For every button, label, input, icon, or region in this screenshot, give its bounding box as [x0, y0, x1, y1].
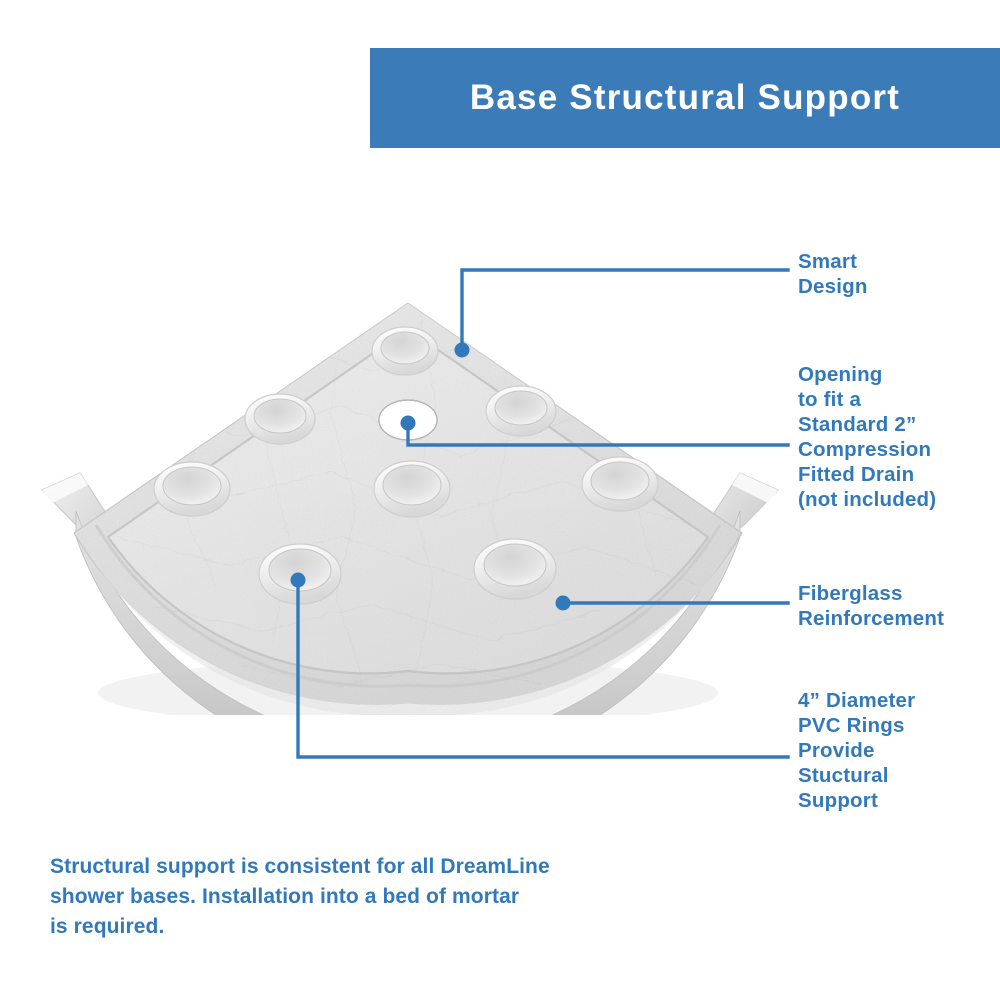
callout-line: Provide [798, 738, 915, 763]
callout-line: Support [798, 788, 915, 813]
footer-line: shower bases. Installation into a bed of… [50, 882, 690, 912]
pvc-ring [374, 461, 450, 517]
callout-line: Opening [798, 362, 936, 387]
pvc-ring [486, 386, 556, 436]
callout-line: Smart [798, 249, 868, 274]
callout-line: to fit a [798, 387, 936, 412]
pvc-ring [259, 544, 341, 604]
callout-line: Standard 2” [798, 412, 936, 437]
callout-drain-opening: Opening to fit a Standard 2” Compression… [798, 362, 936, 512]
callout-line: 4” Diameter [798, 688, 915, 713]
callout-line: (not included) [798, 487, 936, 512]
callout-line: Compression [798, 437, 936, 462]
footer-note: Structural support is consistent for all… [50, 852, 690, 941]
callout-line: Fitted Drain [798, 462, 936, 487]
callout-line: Fiberglass [798, 581, 944, 606]
callout-line: Reinforcement [798, 606, 944, 631]
pvc-ring [372, 327, 438, 375]
callout-smart-design: Smart Design [798, 249, 868, 299]
pvc-ring [582, 457, 658, 511]
pvc-ring [245, 394, 315, 444]
pvc-ring [474, 539, 556, 599]
footer-line: is required. [50, 912, 690, 942]
callout-line: Design [798, 274, 868, 299]
callout-line: PVC Rings [798, 713, 915, 738]
callout-line: Stuctural [798, 763, 915, 788]
drain-opening-hole [379, 400, 437, 440]
callout-fiberglass-reinforcement: Fiberglass Reinforcement [798, 581, 944, 631]
callout-pvc-rings: 4” Diameter PVC Rings Provide Stuctural … [798, 688, 915, 813]
footer-line: Structural support is consistent for all… [50, 852, 690, 882]
page-title: Base Structural Support [470, 79, 900, 118]
shower-base-graphic [40, 285, 780, 715]
product-illustration [40, 285, 780, 715]
header-banner: Base Structural Support [370, 48, 1000, 148]
pvc-ring [154, 462, 230, 516]
infographic-page: Base Structural Support [0, 0, 1000, 1000]
